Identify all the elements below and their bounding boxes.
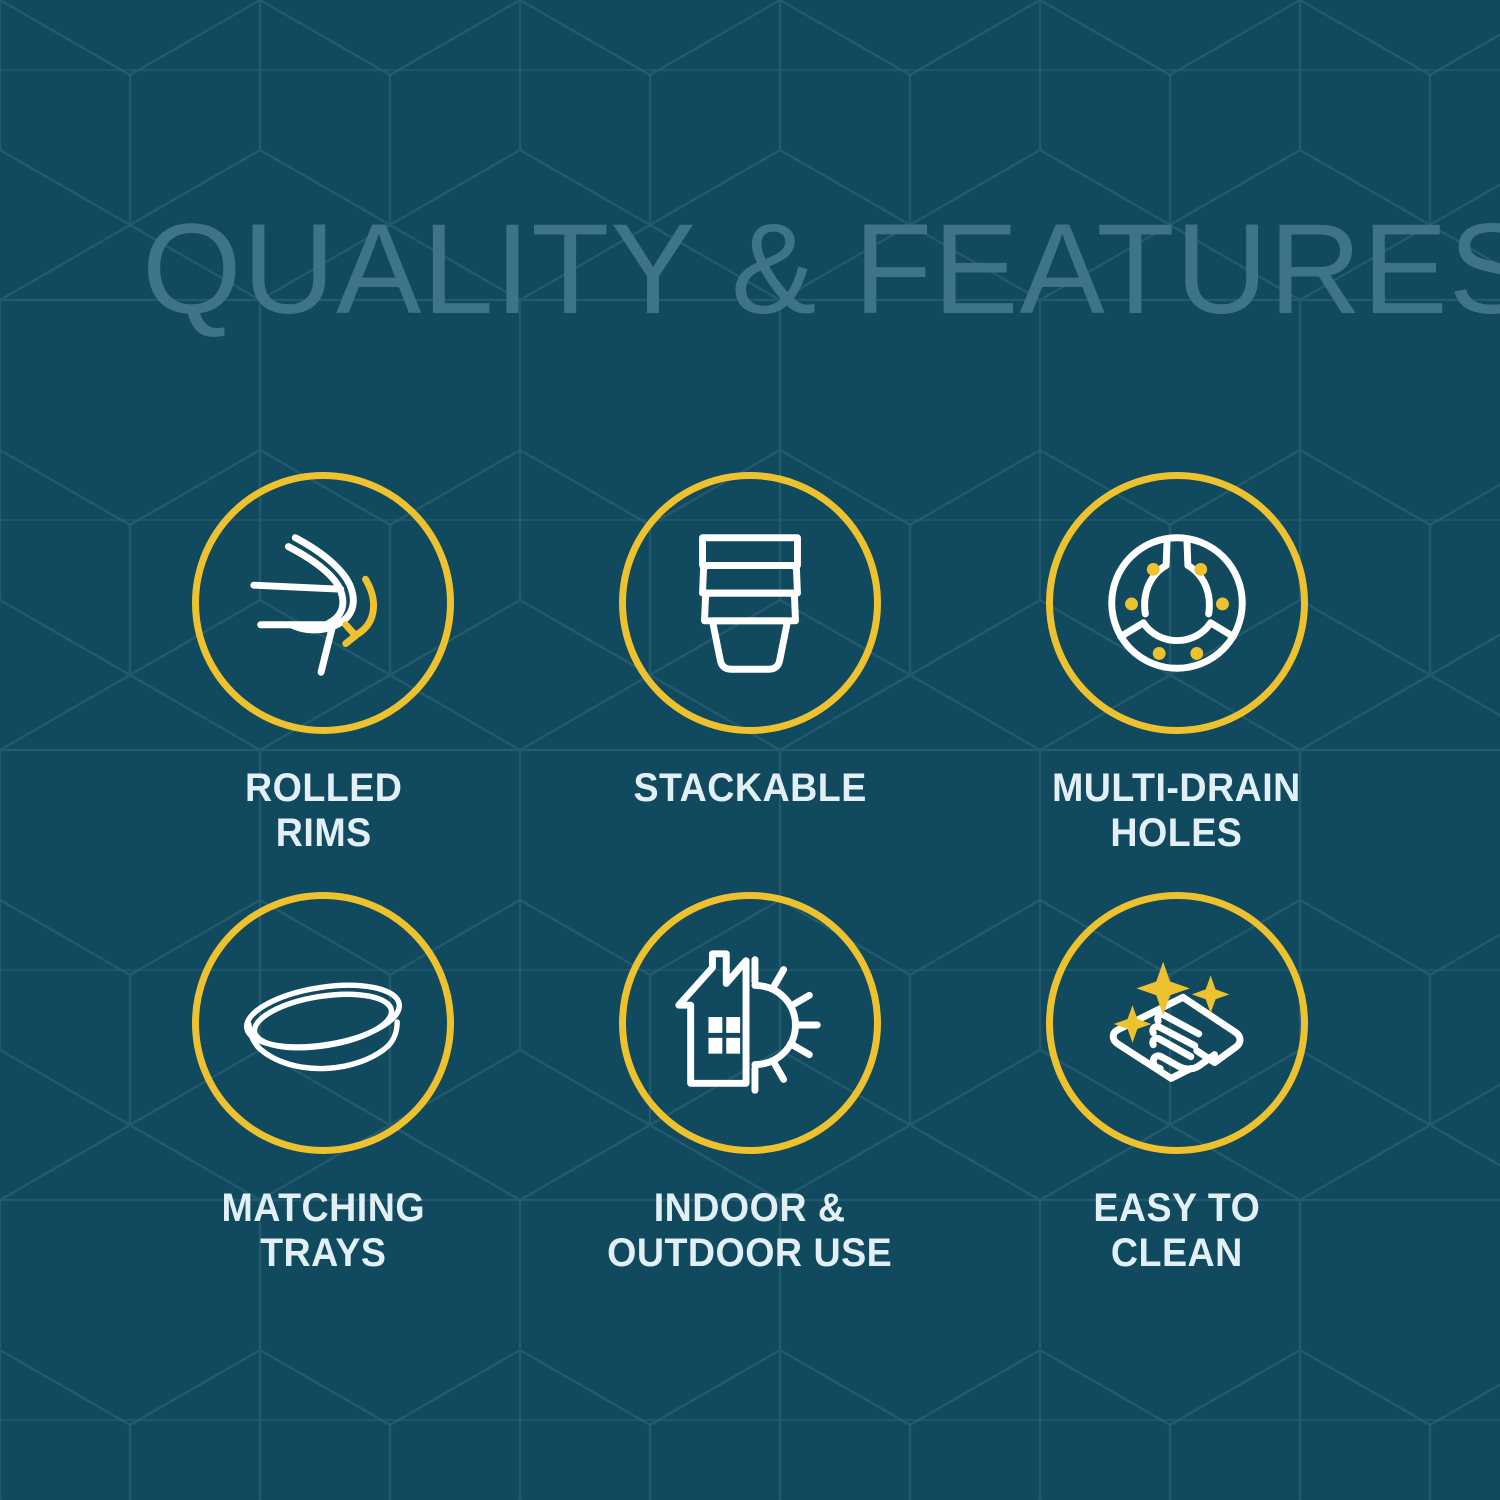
indoor-outdoor-badge [619, 892, 881, 1154]
multi-drain-holes-badge [1046, 472, 1308, 734]
stackable-badge [619, 472, 881, 734]
feature-label: ROLLED RIMS [245, 766, 402, 856]
feature-indoor-outdoor-use: INDOOR & OUTDOOR USE [537, 892, 964, 1312]
hand-wiping-cloth-sparkles-icon [1088, 934, 1266, 1112]
stacked-pots-icon [661, 514, 839, 692]
feature-label: INDOOR & OUTDOOR USE [607, 1186, 892, 1276]
feature-easy-to-clean: EASY TO CLEAN [963, 892, 1390, 1312]
oval-tray-icon [234, 934, 412, 1112]
rolled-rims-badge [192, 472, 454, 734]
feature-rolled-rims: ROLLED RIMS [110, 472, 537, 892]
easy-to-clean-badge [1046, 892, 1308, 1154]
rolled-rim-icon [234, 514, 412, 692]
pot-base-drain-holes-icon [1088, 514, 1266, 692]
matching-trays-badge [192, 892, 454, 1154]
feature-label: MULTI-DRAIN HOLES [1052, 766, 1301, 856]
feature-stackable: STACKABLE [537, 472, 964, 892]
feature-label: EASY TO CLEAN [1093, 1186, 1260, 1276]
feature-grid: ROLLED RIMS STACKABLE [110, 472, 1390, 1312]
feature-matching-trays: MATCHING TRAYS [110, 892, 537, 1312]
house-and-sun-icon [661, 934, 839, 1112]
feature-label: MATCHING TRAYS [222, 1186, 426, 1276]
quality-and-features-panel: QUALITY & FEATURES ROLLED RIMS [0, 0, 1500, 1500]
page-title: QUALITY & FEATURES [142, 206, 1500, 334]
feature-label: STACKABLE [633, 766, 866, 811]
feature-multi-drain-holes: MULTI-DRAIN HOLES [963, 472, 1390, 892]
